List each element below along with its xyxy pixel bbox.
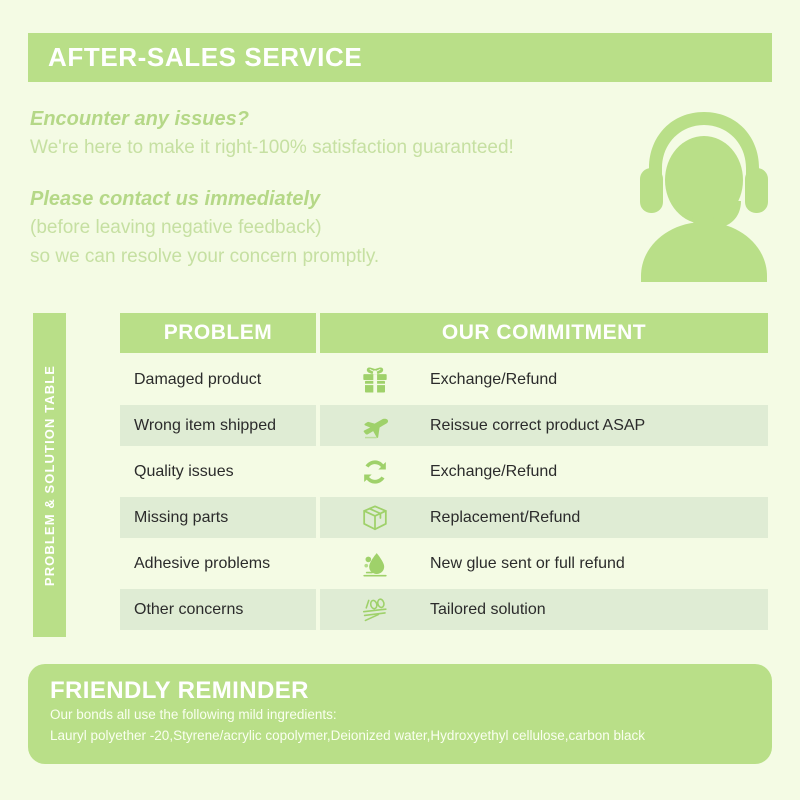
table-row: Wrong item shipped Reissue correct produ… xyxy=(120,405,768,446)
after-sales-service-banner: AFTER-SALES SERVICE xyxy=(28,33,772,82)
cell-commitment: Exchange/Refund xyxy=(320,451,768,492)
box-package-icon xyxy=(320,503,430,533)
table-row: Missing parts Replacement/Refund xyxy=(120,497,768,538)
intro-heading-2: Please contact us immediately xyxy=(30,184,630,214)
side-label-problem-solution-table: PROBLEM & SOLUTION TABLE xyxy=(33,313,66,637)
side-label-text: PROBLEM & SOLUTION TABLE xyxy=(42,364,57,585)
commitment-text: Exchange/Refund xyxy=(430,463,557,481)
commitment-text: New glue sent or full refund xyxy=(430,555,625,573)
cell-problem: Wrong item shipped xyxy=(120,405,316,446)
cell-commitment: Tailored solution xyxy=(320,589,768,630)
cell-problem: Missing parts xyxy=(120,497,316,538)
intro-subtext-1: We're here to make it right-100% satisfa… xyxy=(30,134,630,163)
column-header-problem: PROBLEM xyxy=(120,313,316,353)
intro-block: Encounter any issues? We're here to make… xyxy=(30,104,630,272)
table-row: Other concerns Tailored solution xyxy=(120,589,768,630)
cell-problem: Other concerns xyxy=(120,589,316,630)
cell-problem: Adhesive problems xyxy=(120,543,316,584)
reminder-line-1: Our bonds all use the following mild ing… xyxy=(50,705,750,726)
reminder-title: FRIENDLY REMINDER xyxy=(50,677,750,705)
hundred-score-icon xyxy=(320,595,430,625)
intro-subtext-3: so we can resolve your concern promptly. xyxy=(30,243,630,272)
cell-problem: Damaged product xyxy=(120,359,316,400)
table-row: Adhesive problems New glue sent or full … xyxy=(120,543,768,584)
commitment-text: Replacement/Refund xyxy=(430,509,580,527)
customer-support-headset-icon xyxy=(628,106,780,282)
cell-commitment: Exchange/Refund xyxy=(320,359,768,400)
table-header-row: PROBLEM OUR COMMITMENT xyxy=(120,313,768,353)
glue-drop-icon xyxy=(320,549,430,579)
refresh-cycle-icon xyxy=(320,457,430,487)
column-header-commitment: OUR COMMITMENT xyxy=(320,313,768,353)
gift-icon xyxy=(320,365,430,395)
page-title: AFTER-SALES SERVICE xyxy=(28,42,362,73)
intro-spacer xyxy=(30,163,630,184)
commitment-text: Tailored solution xyxy=(430,601,546,619)
intro-subtext-2: (before leaving negative feedback) xyxy=(30,214,630,243)
table-row: Damaged product Exchange/Refund xyxy=(120,359,768,400)
friendly-reminder-card: FRIENDLY REMINDER Our bonds all use the … xyxy=(28,664,772,764)
reminder-line-2: Lauryl polyether -20,Styrene/acrylic cop… xyxy=(50,726,750,747)
table-row: Quality issues Exchange/Refund xyxy=(120,451,768,492)
cell-commitment: New glue sent or full refund xyxy=(320,543,768,584)
airplane-icon xyxy=(320,411,430,441)
cell-problem: Quality issues xyxy=(120,451,316,492)
intro-heading-1: Encounter any issues? xyxy=(30,104,630,134)
commitment-text: Reissue correct product ASAP xyxy=(430,417,645,435)
commitment-text: Exchange/Refund xyxy=(430,371,557,389)
cell-commitment: Replacement/Refund xyxy=(320,497,768,538)
problem-solution-table: PROBLEM OUR COMMITMENT Damaged product xyxy=(120,313,768,635)
cell-commitment: Reissue correct product ASAP xyxy=(320,405,768,446)
